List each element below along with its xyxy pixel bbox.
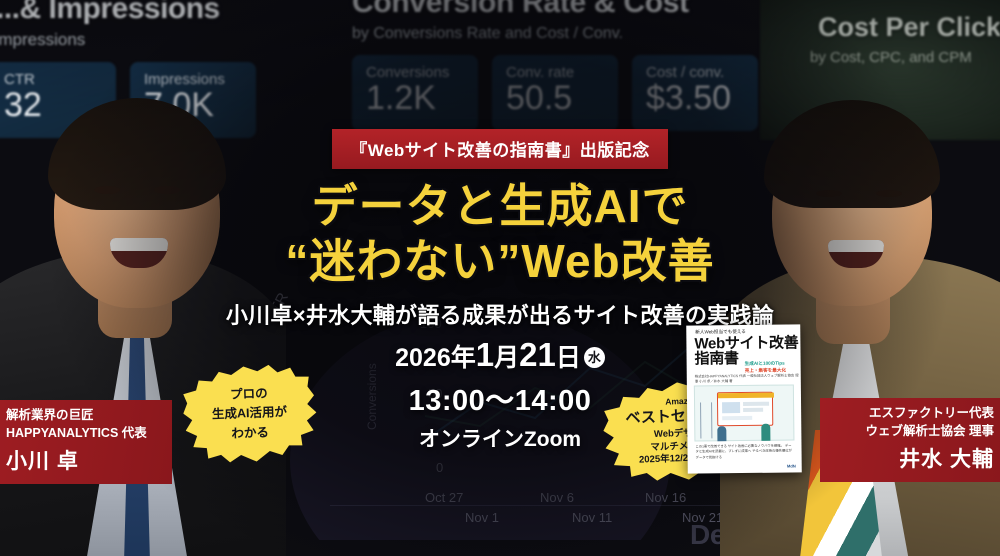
speaker-role-line1: エスファクトリー代表 bbox=[832, 405, 994, 423]
page-title-line2: “迷わない”Web改善 bbox=[0, 238, 1000, 284]
book-body-text: この1冊で改善できる サイト改善に必要なノウハウを網羅。 データと生成AIを武器… bbox=[695, 443, 793, 460]
date-month-unit: 月 bbox=[494, 344, 519, 372]
speaker-role-line2: HAPPYANALYTICS 代表 bbox=[6, 425, 160, 443]
monitor-block-3 bbox=[743, 408, 763, 412]
headline-block: 『Webサイト改善の指南書』出版記念 データと生成AIで “迷わない”Web改善… bbox=[0, 0, 1000, 330]
burst-left-line3: わかる bbox=[232, 425, 270, 440]
publisher-logo: MdN bbox=[787, 463, 796, 468]
speaker-name: 小川 卓 bbox=[6, 445, 160, 475]
book-illustration bbox=[694, 384, 795, 441]
ladder-icon bbox=[700, 402, 712, 438]
date-month: 1 bbox=[476, 336, 494, 373]
date-day-unit: 日 bbox=[556, 344, 581, 372]
chart-ytick-0: 0 bbox=[436, 460, 443, 475]
book-cover: 新人Web担当でも使える Webサイト改善 指南書 生成AIと100のTips … bbox=[686, 324, 802, 473]
speaker-nameplate-right: エスファクトリー代表 ウェブ解析士協会 理事 井水 大輔 bbox=[820, 398, 1000, 482]
event-details: 2026年1月21日水 13:00〜14:00 オンラインZoom bbox=[390, 336, 610, 453]
chart-xtick-0: Oct 27 bbox=[425, 490, 463, 505]
burst-left-text: プロの 生成AI活用が わかる bbox=[211, 384, 288, 445]
chart-xtick-2: Nov 6 bbox=[540, 490, 574, 505]
speaker-nameplate-left: 解析業界の巨匠 HAPPYANALYTICS 代表 小川 卓 bbox=[0, 400, 172, 484]
date-day: 21 bbox=[519, 336, 556, 373]
page-subtitle: 小川卓×井水大輔が語る成果が出るサイト改善の実践論 bbox=[0, 298, 1000, 330]
page-title-line1: データと生成AIで bbox=[0, 183, 1000, 229]
webinar-banner: ...& Impressions nd Impressions CTR 32 I… bbox=[0, 0, 1000, 556]
person-illustration-2 bbox=[761, 424, 770, 441]
burst-left-line1: プロの bbox=[230, 386, 268, 401]
chart-xtick-3: Nov 11 bbox=[572, 510, 612, 525]
speaker-name: 井水 大輔 bbox=[832, 443, 994, 473]
book-accent-line1: 生成AIと100のTips bbox=[745, 361, 785, 367]
speaker-role-line2: ウェブ解析士協会 理事 bbox=[832, 423, 994, 441]
publication-badge: 『Webサイト改善の指南書』出版記念 bbox=[332, 129, 668, 169]
monitor-block-4 bbox=[722, 416, 752, 420]
person-illustration-1 bbox=[717, 426, 726, 441]
date-year: 2026年 bbox=[395, 344, 476, 372]
chart-ylabel: Conversions bbox=[365, 363, 379, 430]
chart-xtick-1: Nov 1 bbox=[465, 510, 499, 525]
burst-left-line2: 生成AI活用が bbox=[212, 405, 287, 422]
event-place: オンラインZoom bbox=[390, 423, 610, 453]
book-authors: 株式会社HAPPYANALYTICS 代表 一般社団法人ウェブ解析士協会 理事 … bbox=[695, 373, 801, 384]
day-of-week-badge: 水 bbox=[584, 347, 605, 368]
book-title-line1: Webサイト改善 bbox=[694, 335, 800, 351]
event-time: 13:00〜14:00 bbox=[390, 377, 610, 419]
monitor-block-2 bbox=[743, 402, 769, 406]
monitor-block-1 bbox=[722, 402, 740, 413]
speaker-role-line1: 解析業界の巨匠 bbox=[6, 407, 160, 425]
event-date: 2026年1月21日水 bbox=[390, 336, 610, 374]
monitor-bar bbox=[718, 393, 774, 399]
monitor-icon bbox=[717, 392, 773, 427]
chart-xtick-4: Nov 16 bbox=[645, 490, 686, 505]
